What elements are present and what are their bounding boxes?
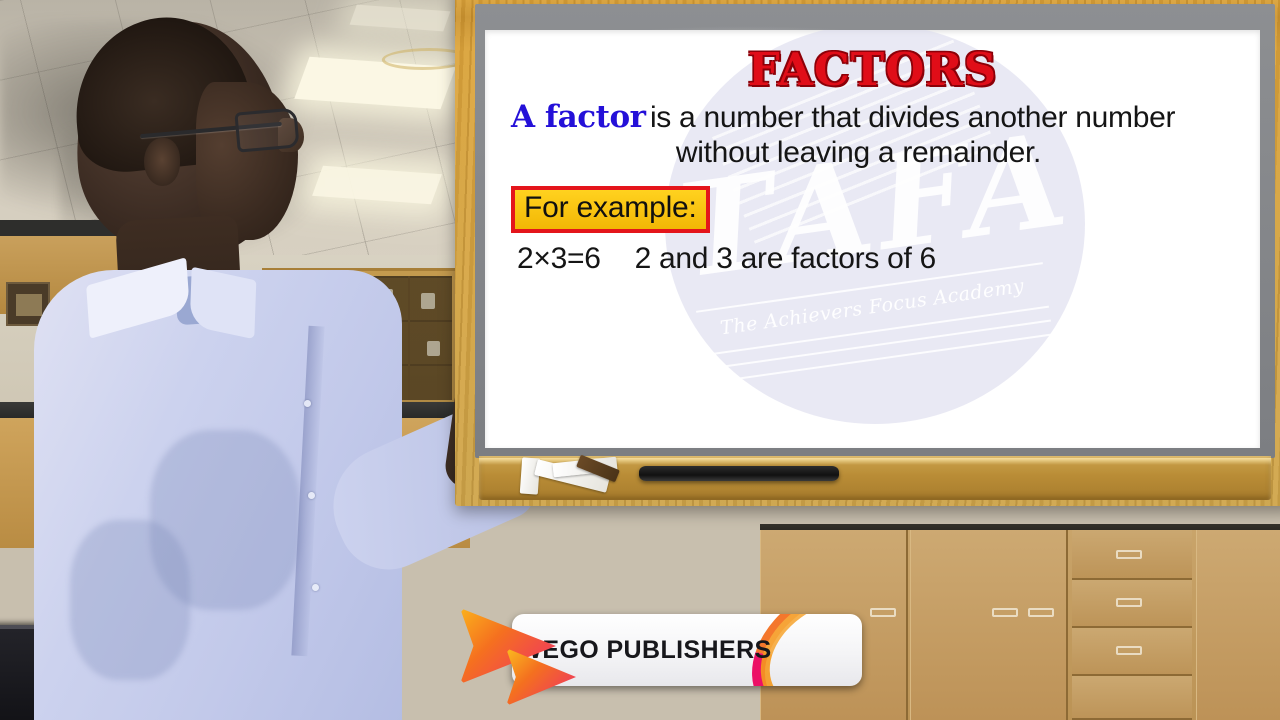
- cabinet-handle: [1028, 608, 1054, 617]
- shirt-fold: [70, 520, 190, 680]
- publisher-banner: WEGO PUBLISHERS: [460, 608, 870, 692]
- definition-term: A factor: [511, 99, 645, 135]
- whiteboard-eraser: [639, 466, 839, 481]
- shirt-button: [312, 584, 319, 591]
- slide-title: FACTORS: [511, 46, 1234, 93]
- example-statement: 2 and 3 are factors of 6: [635, 242, 936, 275]
- video-frame: TAFA The Achievers Focus Academy FACTORS…: [0, 0, 1280, 720]
- cabinet-drawer: [1072, 676, 1192, 720]
- eyeglasses-lens: [234, 107, 299, 152]
- example-line: 2×3=62 and 3 are factors of 6: [511, 242, 1234, 276]
- definition-line-1: A factor is a number that divides anothe…: [511, 99, 1234, 135]
- cabinet-door: [1196, 530, 1280, 720]
- shirt-button: [304, 400, 311, 407]
- teacher-figure: [0, 0, 470, 720]
- definition-line-2-text: without leaving a remainder.: [676, 136, 1041, 169]
- cabinet-handle: [992, 608, 1018, 617]
- cabinet-handle: [870, 608, 896, 617]
- slide-content: FACTORS A factor is a number that divide…: [485, 30, 1260, 448]
- drawer-handle: [1116, 646, 1142, 655]
- drawer-handle: [1116, 598, 1142, 607]
- drawer-handle: [1116, 550, 1142, 559]
- publisher-name: WEGO PUBLISHERS: [512, 636, 778, 665]
- example-section: For example: 2×3=62 and 3 are factors of…: [511, 186, 1234, 276]
- shirt-button: [308, 492, 315, 499]
- whiteboard: TAFA The Achievers Focus Academy FACTORS…: [455, 0, 1280, 506]
- definition-line-1-text: is a number that divides another number: [650, 101, 1175, 134]
- example-equation: 2×3=6: [517, 242, 601, 275]
- definition-line-2: without leaving a remainder.: [511, 136, 1234, 170]
- example-label-badge: For example:: [511, 186, 710, 233]
- teacher-ear: [144, 138, 180, 186]
- whiteboard-surface: TAFA The Achievers Focus Academy FACTORS…: [485, 30, 1260, 448]
- whiteboard-marker-tray: [479, 456, 1271, 500]
- cabinet-door: [910, 530, 1068, 720]
